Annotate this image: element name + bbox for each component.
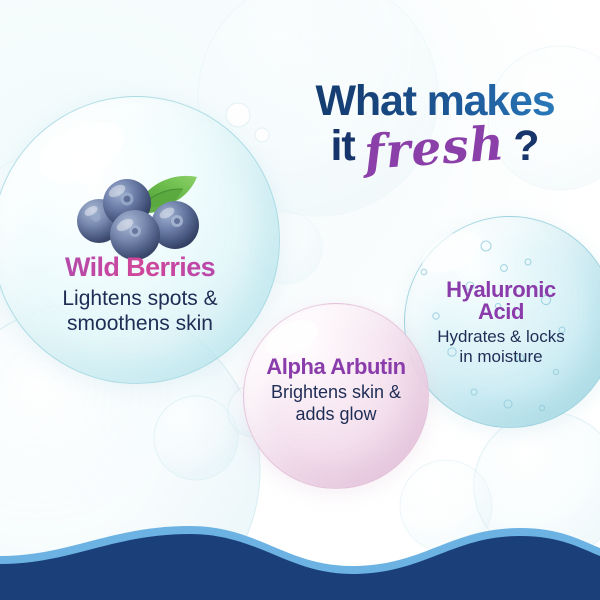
poster-canvas: What makes it fresh ? [0,0,600,600]
headline-word-it: it [330,125,354,168]
headline-line-2: it fresh ? [276,121,594,168]
ingredient-title-hyaluronic-acid: Hyaluronic Acid [408,279,594,324]
ingredient-desc-line: Hydrates & locks [408,327,594,347]
ingredient-desc-wild-berries: Lightens spots & smoothens skin [4,286,276,336]
ingredient-desc-line: adds glow [232,404,440,426]
ingredient-hyaluronic-acid: Hyaluronic Acid Hydrates & locks in mois… [408,279,594,368]
ingredient-desc-line: Lightens spots & [4,286,276,311]
ingredient-desc-hyaluronic-acid: Hydrates & locks in moisture [408,327,594,368]
ingredient-desc-line: Brightens skin & [232,382,440,404]
headline-question-mark: ? [513,125,539,168]
ingredient-wild-berries: Wild Berries Lightens spots & smoothens … [4,254,276,336]
headline-line-1: What makes [276,80,594,123]
ingredient-title-line: Acid [408,301,594,323]
headline: What makes it fresh ? [276,80,594,168]
ingredient-title-wild-berries: Wild Berries [4,254,276,282]
bubble-icon [226,103,250,127]
bubble-icon [154,396,238,480]
wave-banner [0,510,600,600]
blueberries-image [63,163,215,265]
headline-word-fresh: fresh [363,120,506,177]
ingredient-desc-line: smoothens skin [4,311,276,336]
ingredient-desc-alpha-arbutin: Brightens skin & adds glow [232,382,440,425]
ingredient-title-line: Hyaluronic [408,279,594,301]
ingredient-desc-line: in moisture [408,347,594,367]
bubble-icon [255,128,269,142]
